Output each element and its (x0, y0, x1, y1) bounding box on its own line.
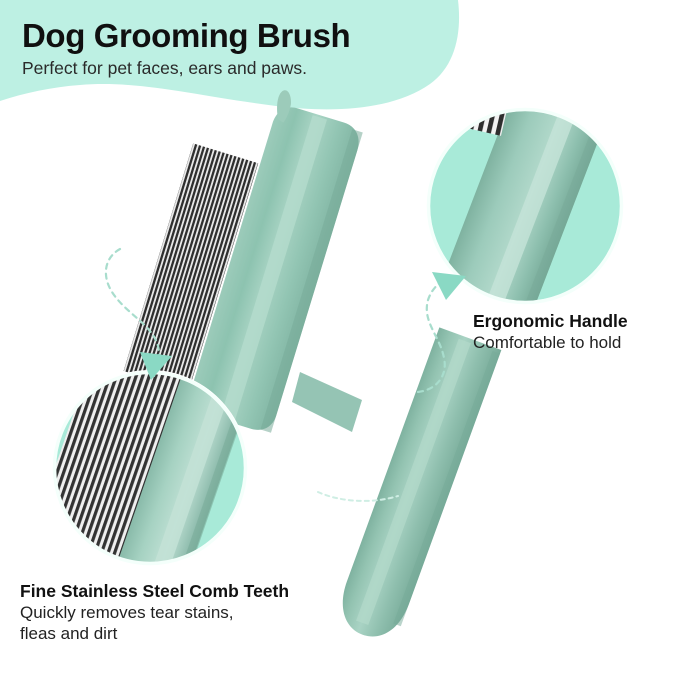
header-text-block: Dog Grooming Brush Perfect for pet faces… (22, 17, 482, 79)
callout-comb-teeth-subtitle-line2: fleas and dirt (20, 623, 289, 644)
callout-comb-teeth-title: Fine Stainless Steel Comb Teeth (20, 580, 289, 602)
product-infographic: Dog Grooming Brush Perfect for pet faces… (0, 0, 679, 679)
callout-ergonomic-handle: Ergonomic Handle Comfortable to hold (473, 310, 628, 353)
callout-ergonomic-handle-subtitle: Comfortable to hold (473, 332, 628, 353)
arrowhead-right (432, 272, 466, 300)
page-subtitle: Perfect for pet faces, ears and paws. (22, 57, 482, 79)
callout-comb-teeth-subtitle-line1: Quickly removes tear stains, (20, 602, 289, 623)
handle-bar (332, 327, 502, 646)
page-title: Dog Grooming Brush (22, 17, 482, 55)
callout-ergonomic-handle-title: Ergonomic Handle (473, 310, 628, 332)
callout-comb-teeth: Fine Stainless Steel Comb Teeth Quickly … (20, 580, 289, 644)
